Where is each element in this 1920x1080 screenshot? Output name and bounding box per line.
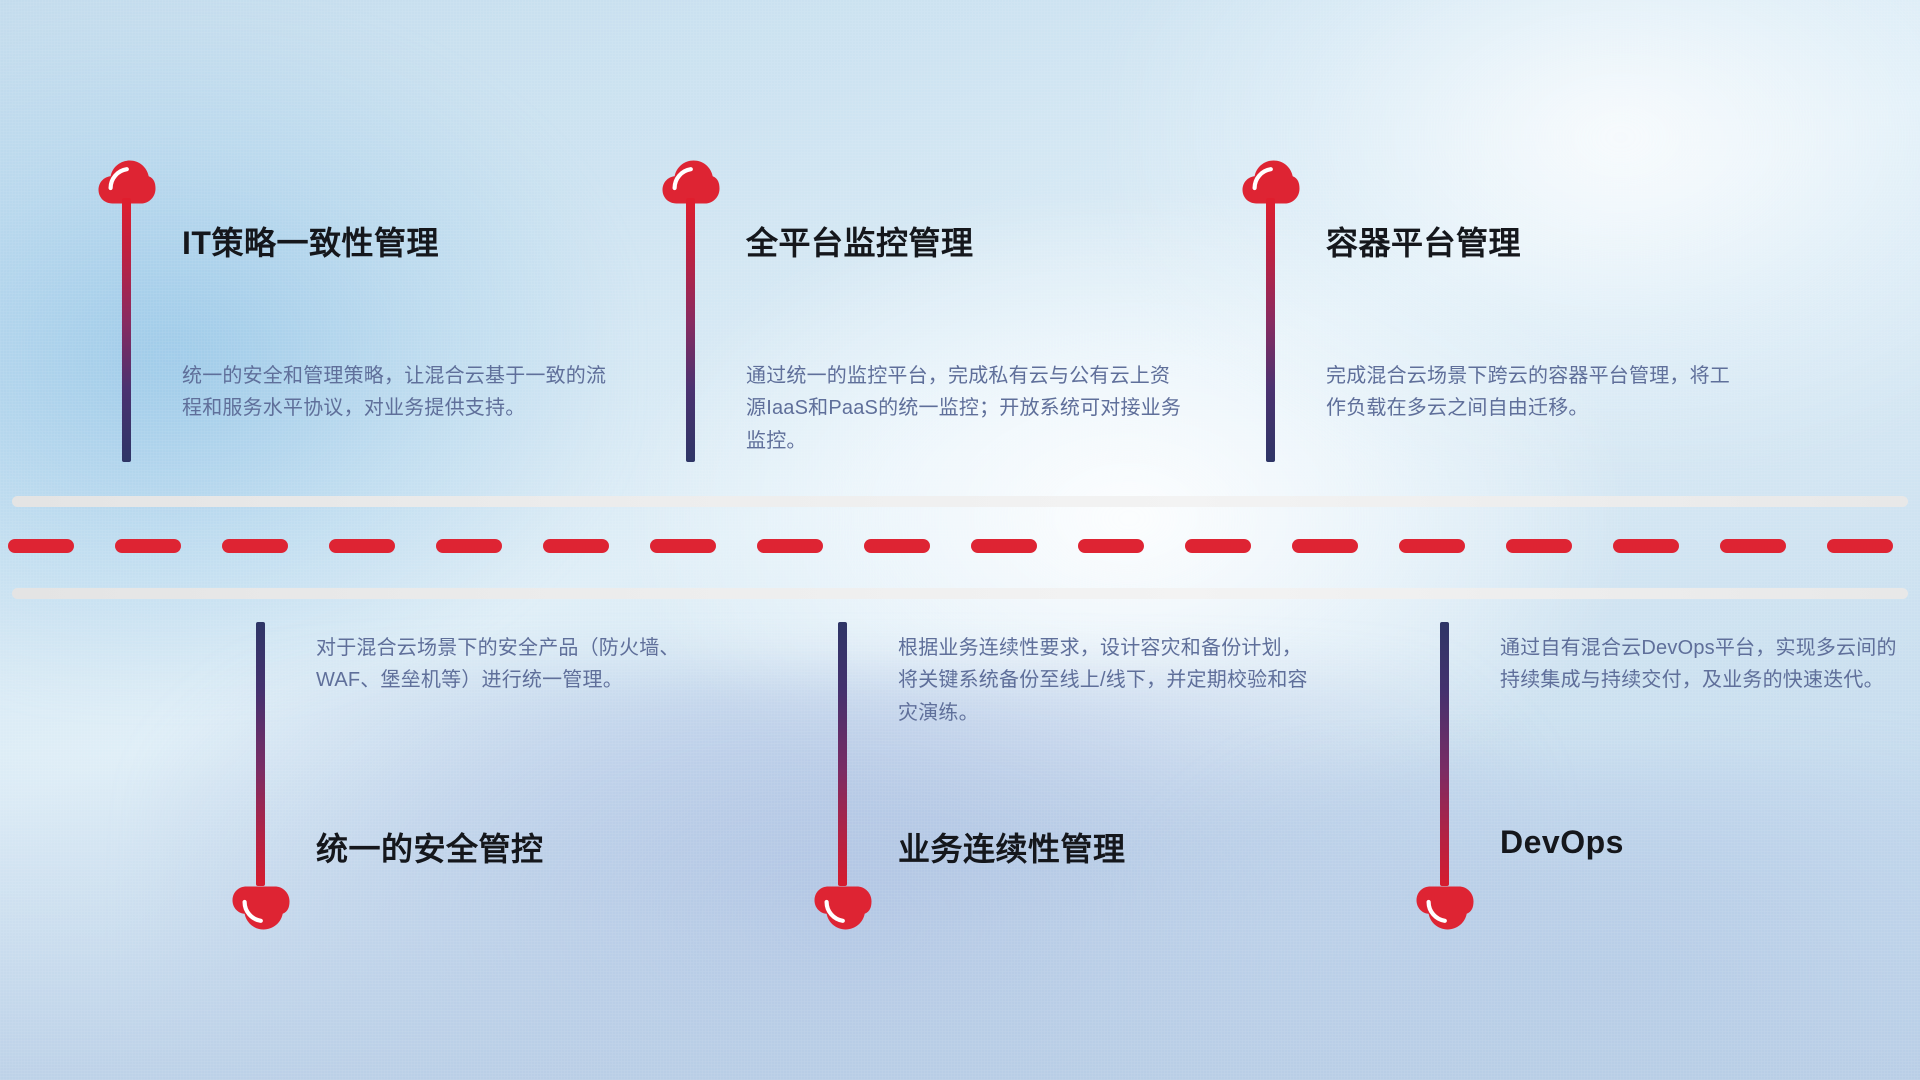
divider-rule-top (12, 496, 1908, 507)
divider-dash (1720, 539, 1786, 553)
bottom-feature-row: 对于混合云场景下的安全产品（防火墙、WAF、堡垒机等）进行统一管理。 统一的安全… (0, 604, 1920, 1080)
divider-rule-bottom (12, 588, 1908, 599)
divider-dash (1827, 539, 1893, 553)
connector-bar-2 (686, 198, 695, 462)
connector-bar-3 (1266, 198, 1275, 462)
feature-title: 业务连续性管理 (898, 824, 1126, 870)
cloud-icon (232, 886, 290, 930)
divider-dash (1292, 539, 1358, 553)
feature-title: DevOps (1500, 824, 1624, 861)
connector-5 (814, 886, 872, 930)
cloud-icon (814, 886, 872, 930)
divider-dash (329, 539, 395, 553)
divider-dash (115, 539, 181, 553)
divider-dashed-line (0, 539, 1920, 553)
feature-title: 容器平台管理 (1326, 218, 1521, 264)
divider-dash (222, 539, 288, 553)
divider-dash (1399, 539, 1465, 553)
section-divider (0, 486, 1920, 604)
feature-description: 通过自有混合云DevOps平台，实现多云间的持续集成与持续交付，及业务的快速迭代… (1500, 632, 1900, 697)
feature-title: 统一的安全管控 (316, 824, 544, 870)
feature-card-monitoring[interactable]: 全平台监控管理 通过统一的监控平台，完成私有云与公有云上资源IaaS和PaaS的… (640, 0, 1220, 486)
cloud-icon (1416, 886, 1474, 930)
connector-bar-6 (1440, 622, 1449, 886)
feature-card-it-policy[interactable]: IT策略一致性管理 统一的安全和管理策略，让混合云基于一致的流程和服务水平协议，… (0, 0, 640, 486)
connector-4 (232, 886, 290, 930)
infographic-canvas: IT策略一致性管理 统一的安全和管理策略，让混合云基于一致的流程和服务水平协议，… (0, 0, 1920, 1080)
connector-bar-5 (838, 622, 847, 886)
connector-bar-4 (256, 622, 265, 886)
feature-card-devops[interactable]: 通过自有混合云DevOps平台，实现多云间的持续集成与持续交付，及业务的快速迭代… (1140, 604, 1920, 1080)
feature-description: 完成混合云场景下跨云的容器平台管理，将工作负载在多云之间自由迁移。 (1326, 360, 1746, 425)
feature-card-business-continuity[interactable]: 根据业务连续性要求，设计容灾和备份计划，将关键系统备份至线上/线下，并定期校验和… (570, 604, 1140, 1080)
connector-6 (1416, 886, 1474, 930)
divider-dash (864, 539, 930, 553)
divider-dash (8, 539, 74, 553)
divider-dash (650, 539, 716, 553)
feature-description: 统一的安全和管理策略，让混合云基于一致的流程和服务水平协议，对业务提供支持。 (182, 360, 622, 425)
top-feature-row: IT策略一致性管理 统一的安全和管理策略，让混合云基于一致的流程和服务水平协议，… (0, 0, 1920, 486)
divider-dash (436, 539, 502, 553)
divider-dash (543, 539, 609, 553)
divider-dash (1613, 539, 1679, 553)
feature-title: 全平台监控管理 (746, 218, 974, 264)
feature-title: IT策略一致性管理 (182, 218, 439, 264)
connector-bar-1 (122, 198, 131, 462)
feature-card-container-platform[interactable]: 容器平台管理 完成混合云场景下跨云的容器平台管理，将工作负载在多云之间自由迁移。 (1220, 0, 1920, 486)
divider-dash (1185, 539, 1251, 553)
feature-description: 通过统一的监控平台，完成私有云与公有云上资源IaaS和PaaS的统一监控；开放系… (746, 360, 1186, 457)
divider-dash (1506, 539, 1572, 553)
feature-card-security-control[interactable]: 对于混合云场景下的安全产品（防火墙、WAF、堡垒机等）进行统一管理。 统一的安全… (0, 604, 570, 1080)
divider-dash (757, 539, 823, 553)
divider-dash (1078, 539, 1144, 553)
divider-dash (971, 539, 1037, 553)
